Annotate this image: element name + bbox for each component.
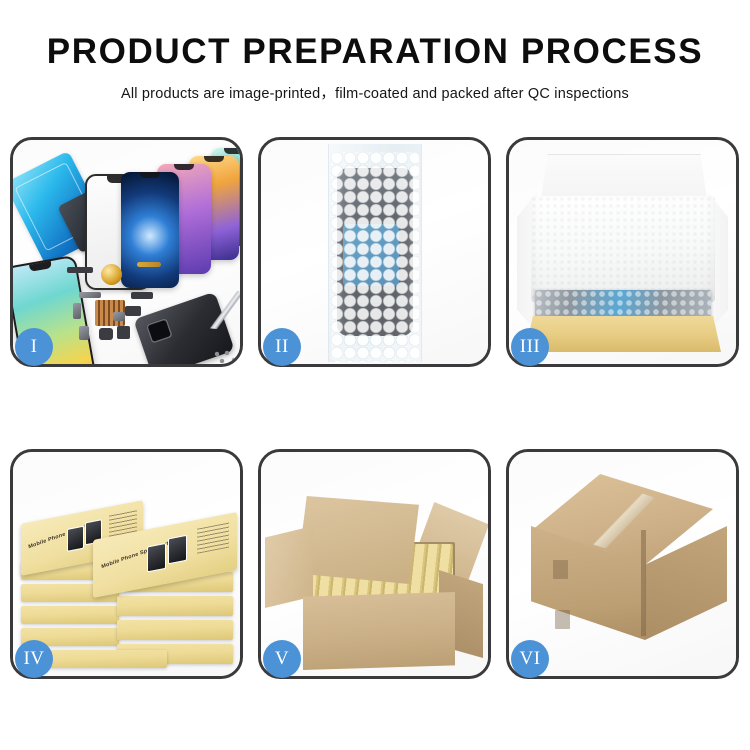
carton-flap-back — [297, 496, 419, 584]
packed-product-icon — [535, 290, 711, 320]
step-panel-5: V — [258, 449, 491, 679]
step-panel-1: I — [10, 137, 243, 367]
camera-module-icon — [131, 292, 153, 299]
open-kraft-box-icon — [525, 316, 721, 352]
step-panel-2: II — [258, 137, 491, 367]
step-panel-6: VI — [506, 449, 739, 679]
box-spec-lines — [197, 523, 229, 554]
step-numeral-6: VI — [519, 648, 540, 670]
step-panel-4: Mobile Phone Spare Parts Mobile Phone Sp… — [10, 449, 243, 679]
step-3-image — [509, 140, 736, 364]
carton-flap-left — [265, 526, 313, 608]
step-4-image: Mobile Phone Spare Parts Mobile Phone Sp… — [13, 452, 240, 676]
step-badge-5: V — [263, 640, 301, 678]
tweezers-icon — [203, 288, 240, 332]
step-badge-2: II — [263, 328, 301, 366]
bubble-wrap-icon — [328, 144, 422, 362]
carton-handle-tab — [553, 560, 568, 579]
vibration-motor-icon — [125, 306, 141, 316]
bracket-icon — [73, 303, 81, 319]
box-edge — [117, 596, 233, 616]
step-numeral-4: IV — [23, 648, 44, 670]
open-carton-icon — [261, 452, 488, 676]
box-edge — [117, 620, 233, 640]
sim-tray-icon — [79, 326, 89, 340]
step-2-image — [261, 140, 488, 364]
stacked-boxes-icon: Mobile Phone Spare Parts Mobile Phone Sp… — [19, 476, 237, 668]
button-flex-icon — [99, 328, 113, 340]
step-numeral-3: III — [520, 336, 540, 358]
earpiece-mesh-icon — [67, 267, 93, 273]
phone-screen-blue-icon — [121, 172, 179, 288]
foam-lining-icon — [531, 196, 715, 302]
step-numeral-1: I — [31, 336, 38, 358]
flex-cable-icon — [137, 262, 161, 267]
step-panel-3: III — [506, 137, 739, 367]
sealed-carton-icon — [509, 452, 736, 676]
box-phone-thumb — [168, 535, 187, 565]
step-badge-6: VI — [511, 640, 549, 678]
carton-handle-tab — [555, 610, 570, 629]
page-title: PRODUCT PREPARATION PROCESS — [0, 34, 750, 71]
header: PRODUCT PREPARATION PROCESS All products… — [0, 0, 750, 103]
step-6-image — [509, 452, 736, 676]
carton-front-panel — [303, 592, 455, 670]
phone-screens-icon — [13, 140, 240, 364]
step-1-image — [13, 140, 240, 364]
step-badge-3: III — [511, 328, 549, 366]
step-badge-4: IV — [15, 640, 53, 678]
charging-port-icon — [113, 312, 125, 321]
box-edge — [49, 650, 167, 668]
carton-corner-seam — [641, 530, 646, 636]
step-numeral-5: V — [275, 648, 289, 670]
step-5-image — [261, 452, 488, 676]
process-steps-grid: I II — [10, 137, 740, 682]
box-phone-thumb — [67, 526, 84, 552]
screws-icon — [213, 350, 239, 364]
speaker-module-icon — [101, 264, 122, 285]
step-numeral-2: II — [275, 336, 289, 358]
bubble-texture-icon — [331, 152, 419, 362]
box-phone-thumb — [147, 543, 166, 573]
loudspeaker-icon — [117, 326, 130, 339]
page-subtitle: All products are image-printed，film-coat… — [0, 82, 750, 103]
connector-icon — [79, 292, 101, 298]
step-badge-1: I — [15, 328, 53, 366]
product-preparation-infographic: PRODUCT PREPARATION PROCESS All products… — [0, 0, 750, 750]
box-edge — [21, 606, 119, 624]
